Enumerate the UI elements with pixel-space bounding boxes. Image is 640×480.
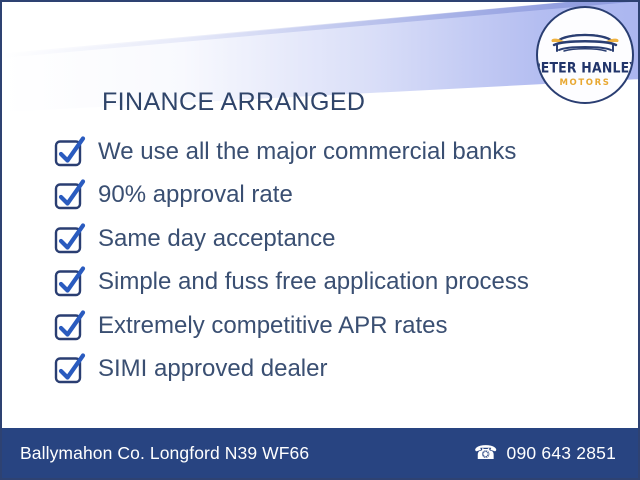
list-item: Simple and fuss free application process <box>54 261 614 305</box>
list-item-label: Simple and fuss free application process <box>98 270 529 294</box>
list-item: Extremely competitive APR rates <box>54 304 614 348</box>
list-item-label: We use all the major commercial banks <box>98 140 516 164</box>
list-item: We use all the major commercial banks <box>54 130 614 174</box>
checkbox-checked-icon <box>54 267 86 297</box>
footer-bar: Ballymahon Co. Longford N39 WF66 ☎ 090 6… <box>2 428 638 478</box>
list-item-label: Extremely competitive APR rates <box>98 314 447 338</box>
footer-address: Ballymahon Co. Longford N39 WF66 <box>20 443 309 464</box>
list-item-label: Same day acceptance <box>98 227 335 251</box>
checkbox-checked-icon <box>54 311 86 341</box>
list-item: Same day acceptance <box>54 217 614 261</box>
checkbox-checked-icon <box>54 137 86 167</box>
checkbox-checked-icon <box>54 224 86 254</box>
logo-brand-subtitle: MOTORS <box>560 79 611 88</box>
list-item: 90% approval rate <box>54 174 614 218</box>
logo-brand-name: PETER HANLEY <box>536 61 634 75</box>
checkbox-checked-icon <box>54 354 86 384</box>
checkbox-checked-icon <box>54 180 86 210</box>
list-item-label: SIMI approved dealer <box>98 357 327 381</box>
list-item-label: 90% approval rate <box>98 183 293 207</box>
feature-list: We use all the major commercial banks 90… <box>54 130 614 391</box>
finance-arranged-slide: PETER HANLEY MOTORS FINANCE ARRANGED We … <box>0 0 640 480</box>
brand-logo: PETER HANLEY MOTORS <box>536 6 634 104</box>
list-item: SIMI approved dealer <box>54 348 614 392</box>
phone-icon: ☎ <box>474 444 498 463</box>
car-silhouette-icon <box>548 27 622 61</box>
footer-phone-group[interactable]: ☎ 090 643 2851 <box>474 443 616 464</box>
page-title: FINANCE ARRANGED <box>102 88 365 117</box>
footer-phone-number: 090 643 2851 <box>507 443 616 464</box>
